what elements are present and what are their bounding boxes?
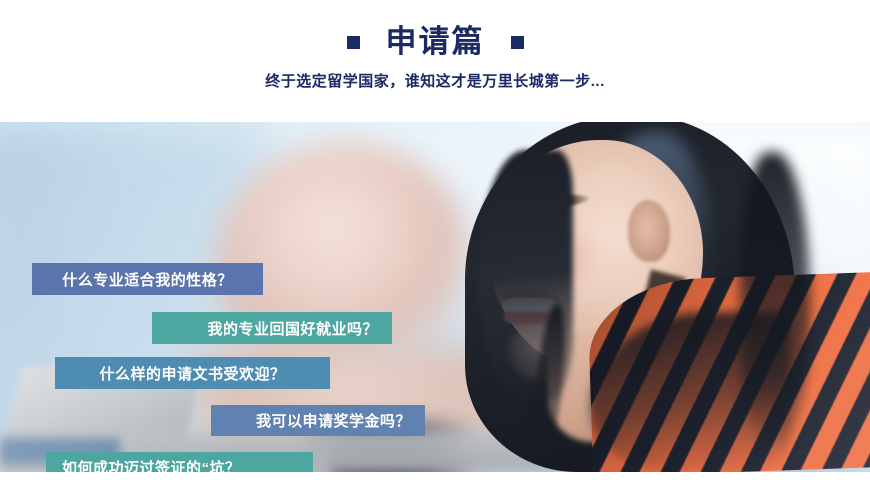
question-bubble-5[interactable]: 如何成功迈过签证的“坑？ xyxy=(46,452,313,472)
promo-banner: 申请篇 终于选定留学国家，谁知这才是万里长城第一步... xyxy=(0,0,870,492)
square-decor-right-icon xyxy=(511,36,524,49)
page-subtitle: 终于选定留学国家，谁知这才是万里长城第一步... xyxy=(0,70,870,91)
title-row: 申请篇 xyxy=(0,22,870,62)
header: 申请篇 终于选定留学国家，谁知这才是万里长城第一步... xyxy=(0,0,870,122)
square-decor-left-icon xyxy=(347,36,360,49)
question-bubble-2[interactable]: 我的专业回国好就业吗？ xyxy=(152,312,392,344)
question-bubble-3[interactable]: 什么样的申请文书受欢迎？ xyxy=(55,357,330,389)
student-portrait xyxy=(440,122,870,472)
question-bubble-4[interactable]: 我可以申请奖学金吗？ xyxy=(211,405,425,436)
question-bubble-1[interactable]: 什么专业适合我的性格？ xyxy=(32,263,263,295)
footer-spacer xyxy=(0,472,870,492)
page-title: 申请篇 xyxy=(386,22,485,62)
ear xyxy=(628,200,670,262)
hero-photo: 什么专业适合我的性格？ 我的专业回国好就业吗？ 什么样的申请文书受欢迎？ 我可以… xyxy=(0,122,870,472)
hair-strand-right xyxy=(740,152,810,452)
